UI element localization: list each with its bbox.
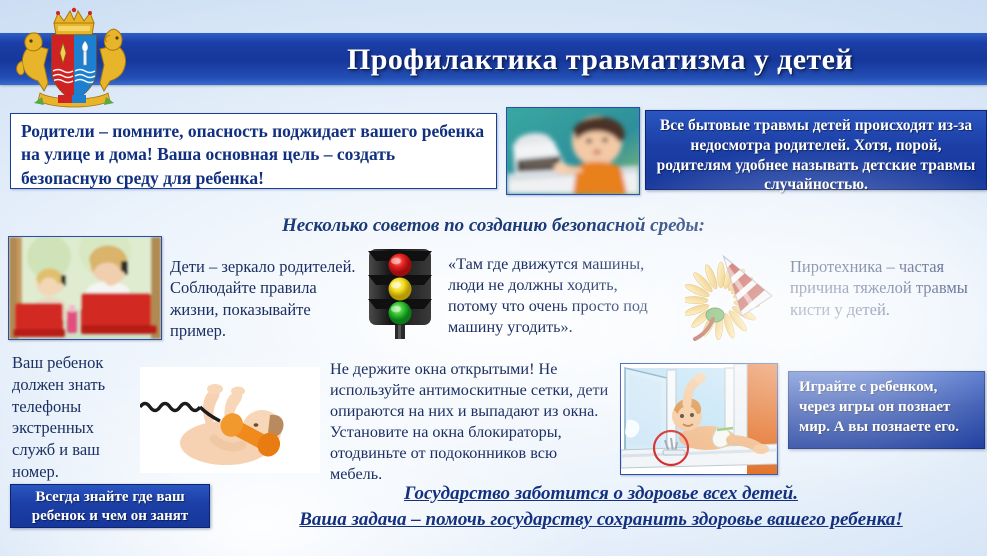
traffic-light-icon [362,247,438,339]
photo-baby-with-telephone [140,367,320,473]
photo-mother-and-child-laptops [8,236,162,340]
firework-rocket-icon [685,243,783,347]
illustration-child-at-window [620,363,778,475]
section-subtitle: Несколько советов по созданию безопасной… [0,215,987,237]
poster-canvas: Профилактика травматизма у детей Родител… [0,0,987,556]
footer-line-1: Государство заботится о здоровье всех де… [215,483,987,505]
page-title: Профилактика травматизма у детей [250,36,950,83]
tip-text-pyrotechnics: Пиротехника – частая причина тяжелой тра… [790,256,985,320]
footer-message: Государство заботится о здоровье всех де… [215,483,987,531]
always-know-box: Всегда знайте где ваш ребенок и чем он з… [10,484,210,528]
footer-line-2: Ваша задача – помочь государству сохрани… [215,509,987,531]
photo-child-with-iron [506,107,640,195]
coat-of-arms-icon [14,5,134,110]
household-injuries-box: Все бытовые травмы детей происходят из-з… [645,110,987,190]
tip-text-mirror: Дети – зеркало родителей. Соблюдайте пра… [170,256,360,342]
parents-warning-box: Родители – помните, опасность поджидает … [10,113,497,189]
tip-text-emergency-numbers: Ваш ребенок должен знать телефоны экстре… [12,352,132,483]
tip-text-road: «Там где движутся машины, люди не должны… [448,254,670,338]
tip-text-windows: Не держите окна открытыми! Не используйт… [330,359,612,485]
play-with-child-box: Играйте с ребенком, через игры он познае… [788,371,985,449]
